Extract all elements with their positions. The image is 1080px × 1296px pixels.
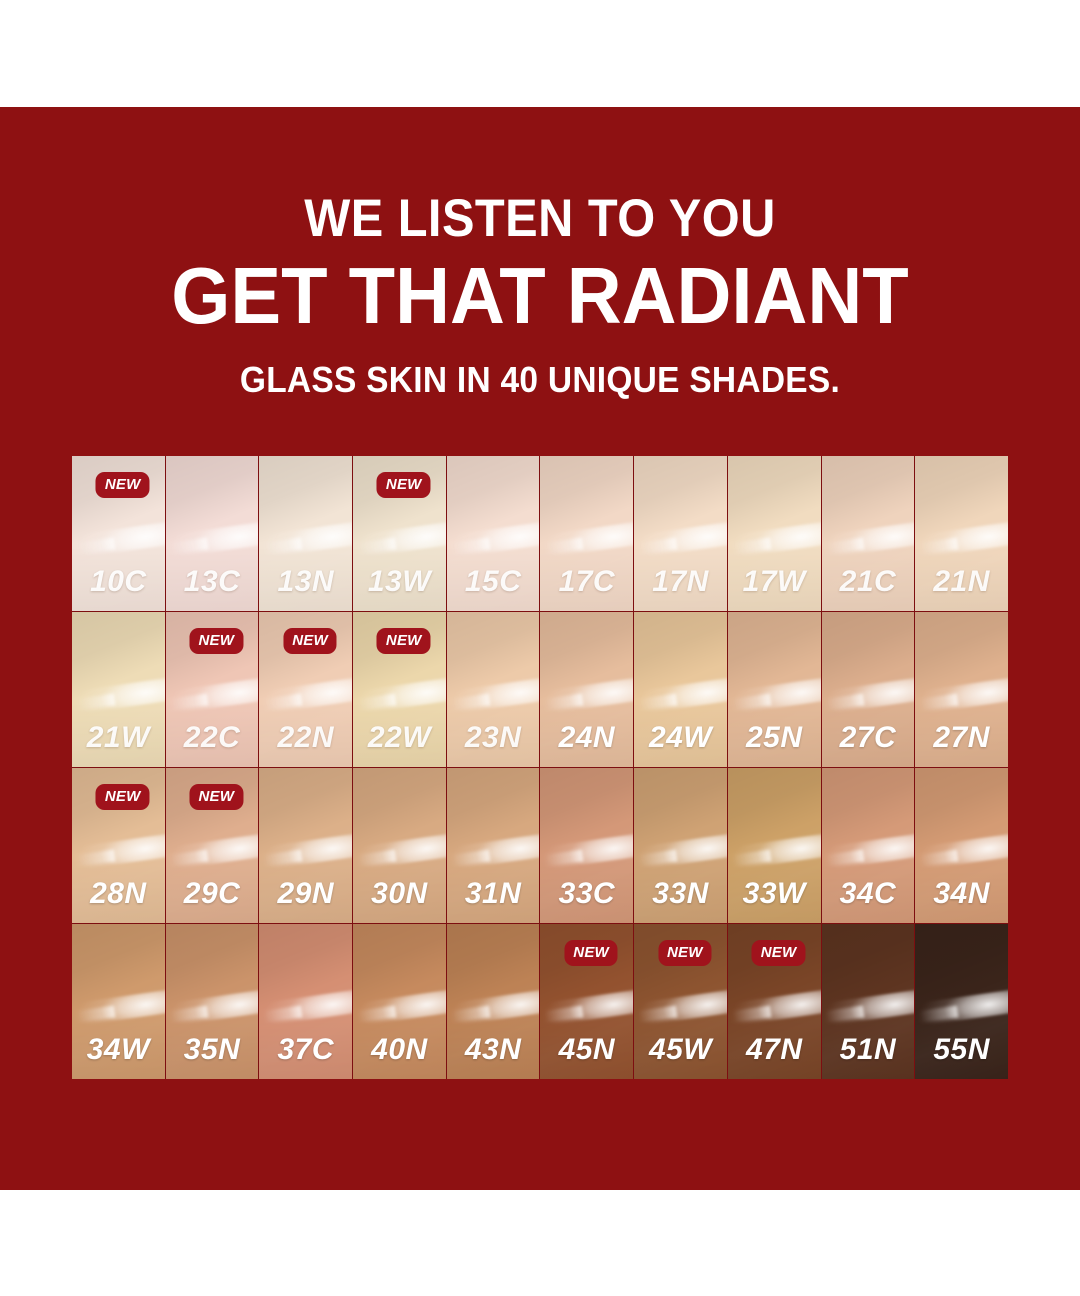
shade-label: 27C: [822, 723, 915, 753]
shade-label: 21C: [822, 567, 915, 597]
shade-range-promo-page: WE LISTEN TO YOU GET THAT RADIANT GLASS …: [0, 0, 1080, 1296]
shade-swatch[interactable]: 23N: [447, 612, 540, 767]
shade-swatch[interactable]: 21W: [72, 612, 165, 767]
shade-label: 40N: [353, 1035, 446, 1065]
shade-swatch-grid: NEW10C13C13NNEW13W15C17C17N17W21C21N21WN…: [72, 456, 1008, 1079]
shade-label: 24W: [634, 723, 727, 753]
shade-label: 15C: [447, 567, 540, 597]
shade-swatch[interactable]: NEW47N: [728, 924, 821, 1079]
shade-swatch[interactable]: 31N: [447, 768, 540, 923]
shade-label: 27N: [915, 723, 1008, 753]
shade-label: 29C: [166, 879, 259, 909]
shade-swatch[interactable]: 24W: [634, 612, 727, 767]
shade-swatch[interactable]: NEW13W: [353, 456, 446, 611]
shade-label: 10C: [72, 567, 165, 597]
shade-label: 22C: [166, 723, 259, 753]
shade-label: 35N: [166, 1035, 259, 1065]
shade-label: 34N: [915, 879, 1008, 909]
shade-label: 21W: [72, 723, 165, 753]
shade-swatch[interactable]: 17N: [634, 456, 727, 611]
shade-label: 31N: [447, 879, 540, 909]
new-badge: NEW: [564, 940, 618, 966]
shade-swatch[interactable]: 17W: [728, 456, 821, 611]
shade-swatch[interactable]: 27C: [822, 612, 915, 767]
shade-swatch[interactable]: 33N: [634, 768, 727, 923]
new-badge: NEW: [377, 472, 431, 498]
new-badge: NEW: [96, 784, 150, 810]
shade-label: 22W: [353, 723, 446, 753]
shade-swatch[interactable]: 51N: [822, 924, 915, 1079]
new-badge: NEW: [377, 628, 431, 654]
shade-label: 33N: [634, 879, 727, 909]
shade-label: 13C: [166, 567, 259, 597]
new-badge: NEW: [283, 628, 337, 654]
shade-label: 34C: [822, 879, 915, 909]
shade-swatch[interactable]: 21N: [915, 456, 1008, 611]
shade-swatch[interactable]: 21C: [822, 456, 915, 611]
shade-swatch[interactable]: 34N: [915, 768, 1008, 923]
heading-block: WE LISTEN TO YOU GET THAT RADIANT GLASS …: [0, 190, 1080, 400]
page-title: GET THAT RADIANT: [27, 254, 1053, 338]
shade-label: 47N: [728, 1035, 821, 1065]
shade-label: 25N: [728, 723, 821, 753]
shade-swatch[interactable]: NEW22N: [259, 612, 352, 767]
shade-swatch[interactable]: 33W: [728, 768, 821, 923]
shade-swatch[interactable]: 55N: [915, 924, 1008, 1079]
shade-label: 45N: [540, 1035, 633, 1065]
shade-label: 28N: [72, 879, 165, 909]
new-badge: NEW: [752, 940, 806, 966]
shade-label: 17C: [540, 567, 633, 597]
shade-swatch[interactable]: NEW22W: [353, 612, 446, 767]
shade-swatch[interactable]: 27N: [915, 612, 1008, 767]
shade-label: 22N: [259, 723, 352, 753]
shade-label: 24N: [540, 723, 633, 753]
new-badge: NEW: [96, 472, 150, 498]
shade-label: 17N: [634, 567, 727, 597]
shade-swatch[interactable]: 43N: [447, 924, 540, 1079]
shade-label: 51N: [822, 1035, 915, 1065]
shade-swatch[interactable]: 37C: [259, 924, 352, 1079]
shade-swatch[interactable]: 34W: [72, 924, 165, 1079]
subheading-text: GLASS SKIN IN 40 UNIQUE SHADES.: [38, 360, 1042, 400]
new-badge: NEW: [190, 784, 244, 810]
new-badge: NEW: [190, 628, 244, 654]
shade-swatch[interactable]: 13N: [259, 456, 352, 611]
shade-label: 55N: [915, 1035, 1008, 1065]
shade-swatch[interactable]: NEW29C: [166, 768, 259, 923]
shade-label: 37C: [259, 1035, 352, 1065]
shade-label: 34W: [72, 1035, 165, 1065]
shade-swatch[interactable]: 24N: [540, 612, 633, 767]
shade-swatch[interactable]: 25N: [728, 612, 821, 767]
shade-swatch[interactable]: 15C: [447, 456, 540, 611]
shade-swatch[interactable]: 34C: [822, 768, 915, 923]
shade-label: 30N: [353, 879, 446, 909]
shade-label: 45W: [634, 1035, 727, 1065]
shade-swatch[interactable]: NEW45N: [540, 924, 633, 1079]
shade-label: 33W: [728, 879, 821, 909]
shade-swatch[interactable]: NEW28N: [72, 768, 165, 923]
shade-label: 13N: [259, 567, 352, 597]
shade-label: 29N: [259, 879, 352, 909]
shade-swatch[interactable]: NEW22C: [166, 612, 259, 767]
shade-swatch[interactable]: 30N: [353, 768, 446, 923]
kicker-text: WE LISTEN TO YOU: [43, 190, 1037, 248]
shade-swatch[interactable]: 33C: [540, 768, 633, 923]
shade-label: 13W: [353, 567, 446, 597]
shade-label: 43N: [447, 1035, 540, 1065]
shade-label: 23N: [447, 723, 540, 753]
shade-swatch[interactable]: NEW45W: [634, 924, 727, 1079]
shade-swatch[interactable]: 13C: [166, 456, 259, 611]
shade-swatch[interactable]: 29N: [259, 768, 352, 923]
shade-swatch[interactable]: 35N: [166, 924, 259, 1079]
shade-swatch[interactable]: 40N: [353, 924, 446, 1079]
shade-swatch[interactable]: 17C: [540, 456, 633, 611]
shade-swatch[interactable]: NEW10C: [72, 456, 165, 611]
shade-label: 21N: [915, 567, 1008, 597]
shade-label: 33C: [540, 879, 633, 909]
shade-label: 17W: [728, 567, 821, 597]
new-badge: NEW: [658, 940, 712, 966]
